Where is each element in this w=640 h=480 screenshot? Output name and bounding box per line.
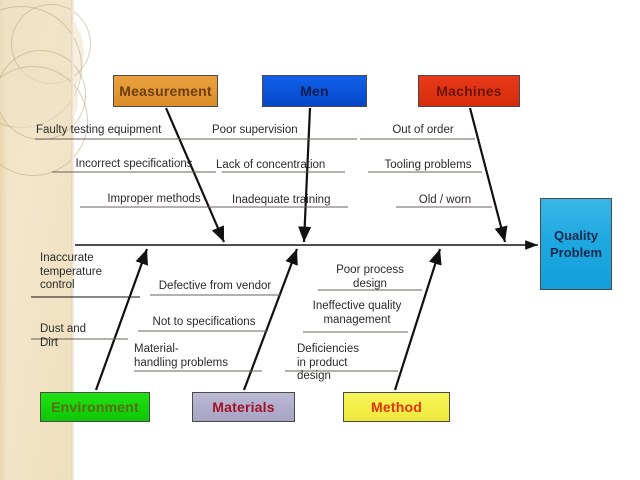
cause-measurement-3: Improper methods <box>80 193 228 207</box>
category-box-men[interactable]: Men <box>262 75 367 107</box>
category-box-method[interactable]: Method <box>343 392 450 422</box>
cause-machines-1: Out of order <box>368 124 478 138</box>
cause-men-2: Lack of concentration <box>216 159 366 173</box>
cause-environment-1: Inaccurate temperature control <box>40 252 136 293</box>
effect-box-quality-problem[interactable]: Quality Problem <box>540 198 612 290</box>
category-box-machines[interactable]: Machines <box>418 75 520 107</box>
cause-men-3: Inadequate training <box>232 194 382 208</box>
cause-method-3: Deficiencies in product design <box>297 343 397 384</box>
cause-men-1: Poor supervision <box>212 124 362 138</box>
category-box-environment[interactable]: Environment <box>40 392 150 422</box>
cause-materials-3: Material- handling problems <box>134 343 266 370</box>
cause-materials-1: Defective from vendor <box>150 280 280 294</box>
cause-machines-2: Tooling problems <box>372 159 484 173</box>
category-box-materials[interactable]: Materials <box>192 392 295 422</box>
cause-machines-3: Old / worn <box>398 194 492 208</box>
cause-measurement-2: Incorrect specifications <box>52 158 216 172</box>
fishbone-diagram-canvas: Measurement Men Machines Environment Mat… <box>0 0 640 480</box>
category-box-measurement[interactable]: Measurement <box>113 75 218 107</box>
cause-measurement-1: Faulty testing equipment <box>36 124 206 138</box>
cause-method-1: Poor process design <box>318 264 422 291</box>
cause-method-2: Ineffective quality management <box>303 300 411 327</box>
cause-environment-2: Dust and Dirt <box>40 323 136 350</box>
cause-materials-2: Not to specifications <box>140 316 268 330</box>
